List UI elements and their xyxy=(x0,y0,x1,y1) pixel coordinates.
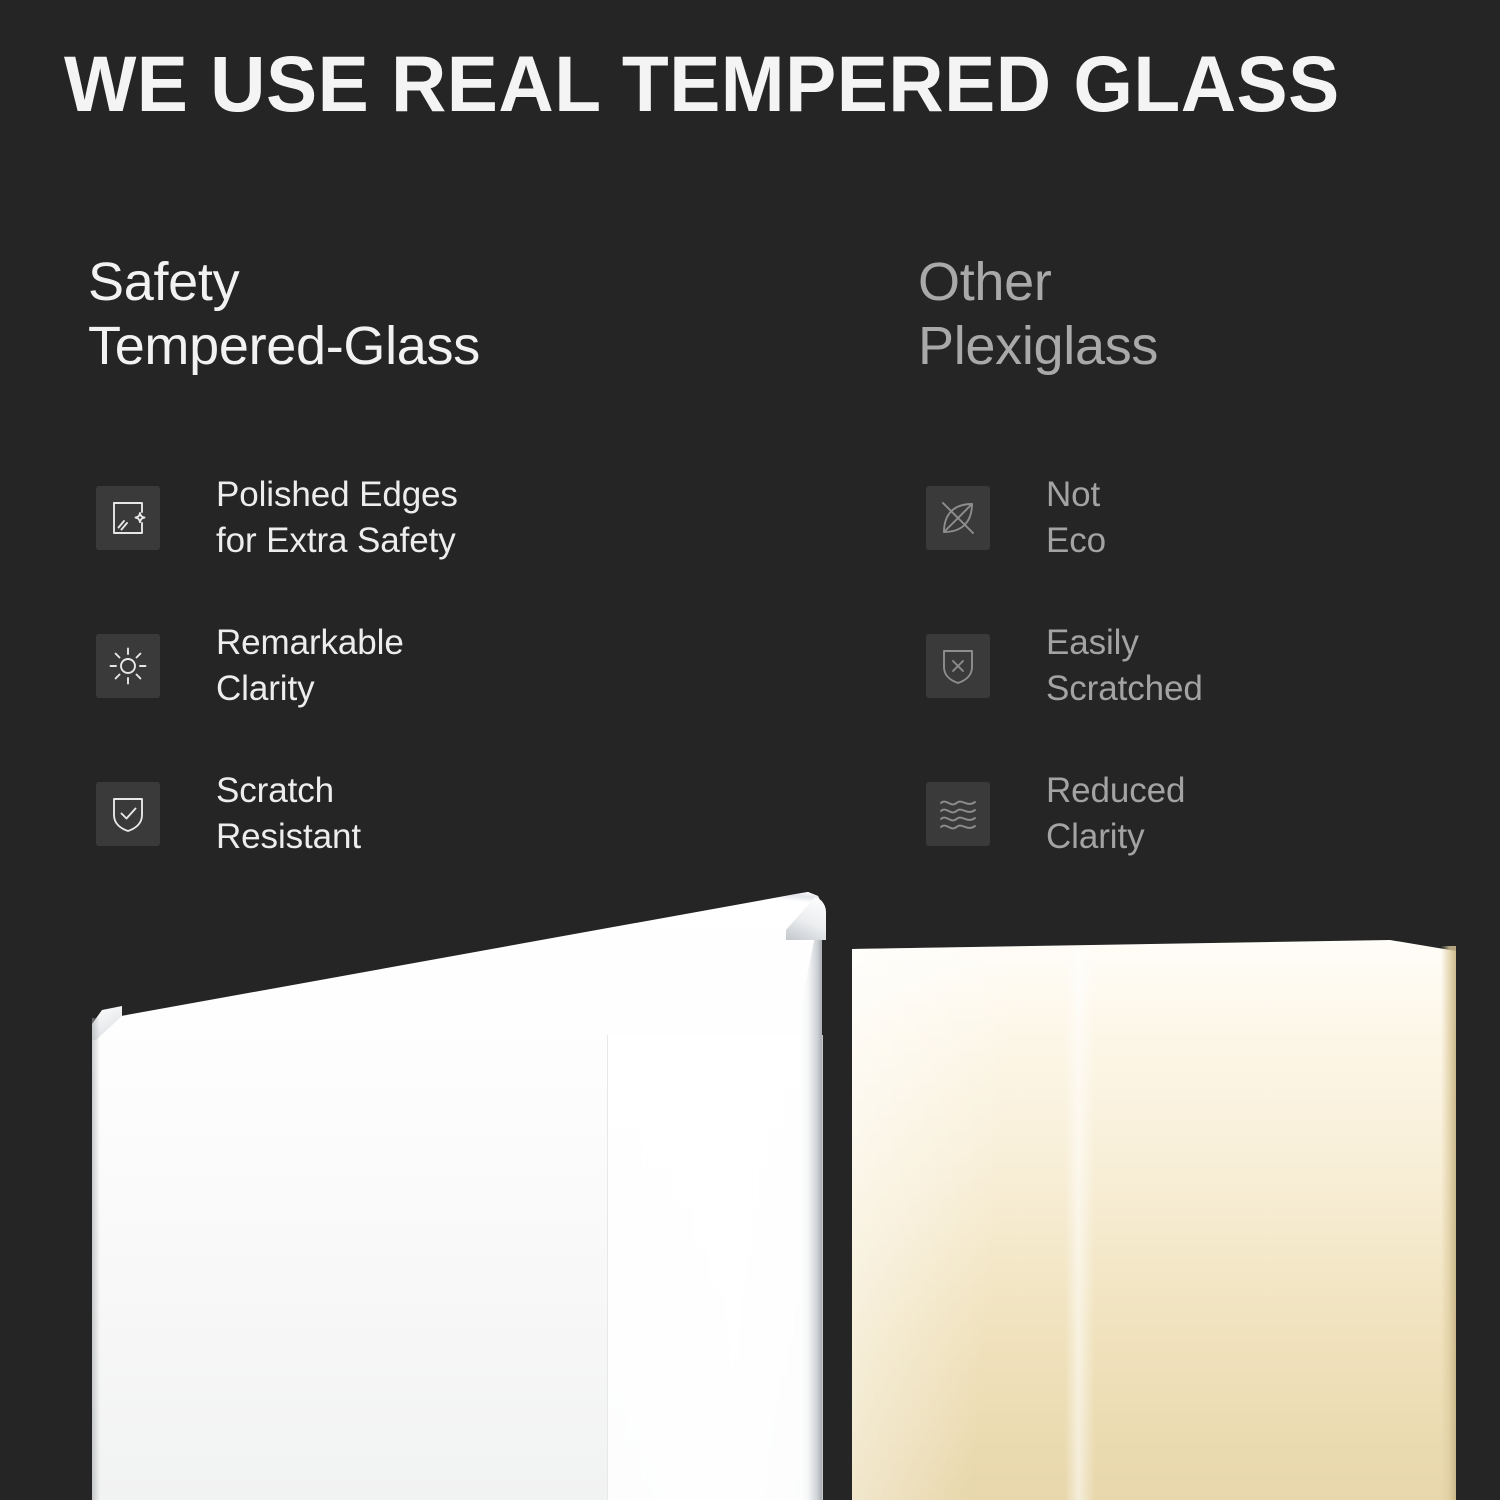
feature-label: Easily Scratched xyxy=(1046,620,1203,712)
feature-label: Reduced Clarity xyxy=(1046,768,1185,860)
polished-glass-sparkle-icon xyxy=(96,486,160,550)
feature-list-plexiglass: Not Eco Easily Scratched xyxy=(926,468,1486,864)
column-tempered-glass: Safety Tempered-Glass Polished Edges for… xyxy=(88,250,868,378)
shield-x-icon xyxy=(926,634,990,698)
plexiglass-sheen xyxy=(1065,948,1095,1500)
feature-remarkable-clarity: Remarkable Clarity xyxy=(96,616,876,716)
comparison-infographic: WE USE REAL TEMPERED GLASS Safety Temper… xyxy=(0,0,1500,1500)
glass-comparison-artwork xyxy=(0,880,1500,1500)
feature-easily-scratched: Easily Scratched xyxy=(926,616,1486,716)
leaf-crossed-out-icon xyxy=(926,486,990,550)
feature-polished-edges: Polished Edges for Extra Safety xyxy=(96,468,876,568)
plexiglass-panel xyxy=(852,940,1456,1500)
feature-label: Polished Edges for Extra Safety xyxy=(216,472,458,564)
shield-check-icon xyxy=(96,782,160,846)
column-title-tempered: Safety Tempered-Glass xyxy=(88,250,868,378)
tempered-glass-left-edge xyxy=(92,1018,100,1500)
column-plexiglass: Other Plexiglass Not Eco xyxy=(918,250,1478,378)
feature-label: Scratch Resistant xyxy=(216,768,361,860)
feature-list-tempered: Polished Edges for Extra Safety Remarkab… xyxy=(96,468,876,864)
plexiglass-right-edge xyxy=(1441,946,1456,1500)
tempered-glass-reflection xyxy=(607,1035,823,1500)
wavy-lines-icon xyxy=(926,782,990,846)
feature-label: Not Eco xyxy=(1046,472,1106,564)
feature-reduced-clarity: Reduced Clarity xyxy=(926,764,1486,864)
page-title: WE USE REAL TEMPERED GLASS xyxy=(64,44,1340,123)
feature-scratch-resistant: Scratch Resistant xyxy=(96,764,876,864)
column-title-plexiglass: Other Plexiglass xyxy=(918,250,1478,378)
sun-clarity-icon xyxy=(96,634,160,698)
feature-not-eco: Not Eco xyxy=(926,468,1486,568)
feature-label: Remarkable Clarity xyxy=(216,620,404,712)
